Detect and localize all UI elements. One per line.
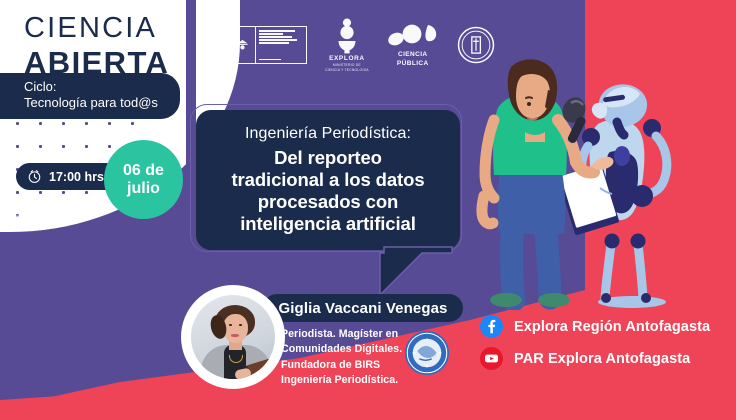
ciclo-label: Ciclo: [24, 79, 158, 95]
robot-leg-right [638, 244, 643, 298]
journalist-pants [498, 172, 566, 234]
chile-coat-of-arms-icon [235, 38, 250, 53]
avatar-eye-left [229, 324, 232, 326]
ucn-seal-icon [457, 26, 495, 64]
date-badge: 06 de julio [104, 140, 183, 219]
speaker-avatar [186, 290, 280, 384]
robot-foot-right [641, 293, 651, 303]
speaker-photo [191, 295, 275, 379]
explora-sub2: CIENCIA Y TECNOLOGÍA [325, 68, 369, 72]
robot-knee-left [605, 234, 620, 249]
youtube-icon[interactable] [480, 347, 503, 370]
robot-elbow-right [631, 185, 653, 207]
social-links: Explora Región Antofagasta PAR Explora A… [480, 315, 710, 370]
journalist-eyebrow [526, 97, 532, 98]
brand-line-1: CIENCIA [24, 14, 169, 43]
robot-face-plate [592, 103, 607, 119]
poster-canvas: CIENCIA ABIERTA Ciclo: Tecnología para t… [0, 0, 736, 420]
robot-foot-left [601, 293, 611, 303]
ciclo-value: Tecnología para tod@s [24, 95, 158, 111]
explora-mark-icon [333, 18, 361, 54]
brand-wordmark: CIENCIA ABIERTA [24, 14, 169, 78]
ciencia-publica-label-1: CIENCIA [398, 51, 428, 58]
ciencia-publica-label-2: PÚBLICA [397, 60, 429, 67]
time-text: 17:00 hrs [49, 170, 104, 184]
title-line-1: Del reporteo [274, 147, 382, 169]
speaker-name-bar: Giglia Vaccani Venegas [263, 294, 463, 322]
social-row-youtube[interactable]: PAR Explora Antofagasta [480, 347, 710, 370]
journalist-shoe-left [490, 293, 522, 307]
journalist-shoe-right [538, 293, 570, 307]
social-row-facebook[interactable]: Explora Región Antofagasta [480, 315, 710, 338]
speaker-bio: Periodista. Magíster en Comunidades Digi… [281, 327, 416, 389]
avatar-eye-right [239, 324, 242, 326]
youtube-handle[interactable]: PAR Explora Antofagasta [514, 351, 690, 367]
date-month: julio [127, 180, 160, 198]
ciencia-publica-mark-icon [387, 23, 439, 49]
journalist-arm-left [485, 120, 494, 198]
bio-line-4: Ingeniería Periodística. [281, 373, 416, 388]
ciclo-pill: Ciclo: Tecnología para tod@s [0, 73, 180, 119]
ministerio-crest-icon [228, 26, 256, 64]
illustration-journalist-and-robot [470, 48, 736, 310]
logo-bar: EXPLORA MINISTERIO DE CIENCIA Y TECNOLOG… [228, 22, 495, 68]
clock-icon [27, 169, 42, 184]
logo-ministerio-ciencia [228, 26, 307, 64]
title-prefix: Ingeniería Periodística: [245, 125, 411, 143]
facebook-icon[interactable] [480, 315, 503, 338]
title-line-3: procesados con [258, 191, 398, 213]
bio-line-3: Fundadora de BIRS [281, 358, 416, 373]
title-line-4: inteligencia artificial [240, 213, 416, 235]
bio-line-2: Comunidades Digitales. [281, 342, 416, 357]
journalist-legs [512, 232, 550, 300]
title-line-2: tradicional a los datos [231, 169, 424, 191]
avatar-lips [231, 334, 239, 337]
ministerio-text-icon [256, 26, 307, 64]
speaker-name: Giglia Vaccani Venegas [279, 300, 448, 317]
facebook-handle[interactable]: Explora Región Antofagasta [514, 319, 710, 335]
gobierno-de-chile-line [259, 59, 281, 61]
robot-leg-left [605, 244, 611, 298]
explora-sub1: MINISTERIO DE [333, 63, 361, 67]
explora-label: EXPLORA [329, 55, 365, 62]
speech-bubble-tail [378, 246, 454, 298]
bio-line-1: Periodista. Magíster en [281, 327, 416, 342]
logo-ciencia-publica: CIENCIA PÚBLICA [387, 23, 439, 68]
avatar-face [223, 314, 248, 343]
logo-ucn [457, 26, 495, 64]
university-seal-icon [404, 330, 450, 376]
journalist-eye [527, 102, 531, 106]
robot-knee-right [631, 234, 646, 249]
logo-explora: EXPLORA MINISTERIO DE CIENCIA Y TECNOLOG… [325, 18, 369, 73]
robot-core-light [614, 146, 630, 166]
date-day: 06 de [123, 162, 164, 180]
title-card: Ingeniería Periodística: Del reporteo tr… [196, 110, 460, 250]
avatar-hand [234, 367, 252, 379]
ministerio-namelines [259, 30, 303, 44]
